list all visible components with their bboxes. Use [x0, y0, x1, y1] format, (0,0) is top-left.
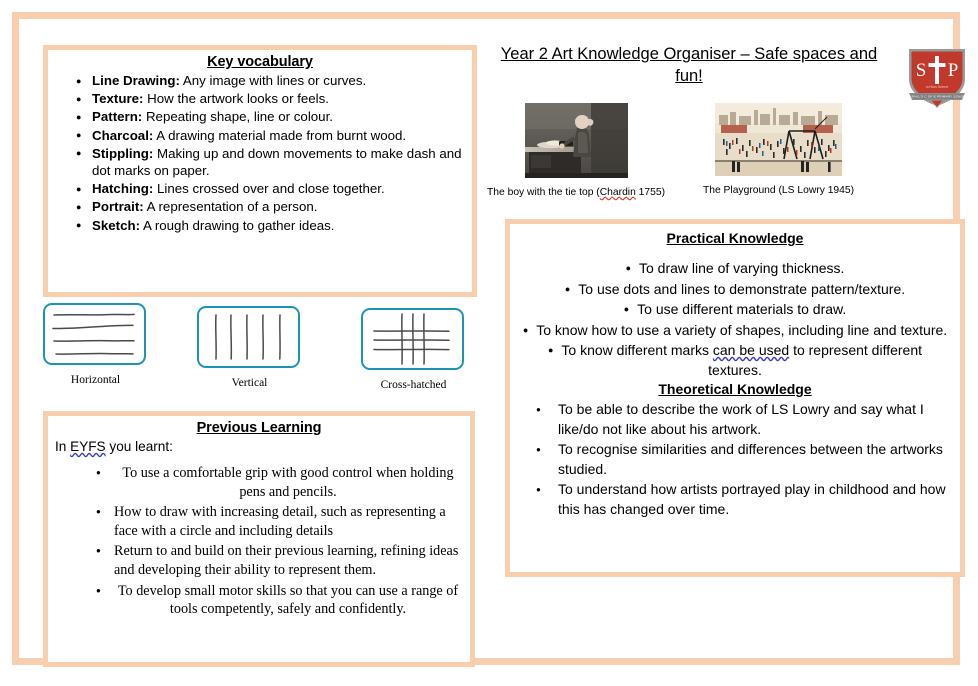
page-border-frame: Key vocabulary Line Drawing: Any image w… — [12, 12, 960, 665]
list-item: To use a comfortable grip with good cont… — [82, 464, 460, 501]
technique-label: Vertical — [197, 377, 302, 389]
vocab-term: Portrait: — [92, 199, 144, 214]
list-item: ●To know different marks can be used to … — [520, 341, 950, 380]
list-item-text: To use dots and lines to demonstrate pat… — [578, 281, 905, 297]
list-item: To understand how artists portrayed play… — [536, 480, 946, 519]
theoretical-knowledge-title: Theoretical Knowledge — [510, 381, 960, 397]
previous-learning-list: To use a comfortable grip with good cont… — [48, 464, 470, 619]
list-item-text: To use different materials to draw. — [637, 301, 846, 317]
list-item: To recognise similarities and difference… — [536, 440, 946, 479]
vocab-definition: A representation of a person. — [144, 199, 318, 214]
header-block: Year 2 Art Knowledge Organiser – Safe sp… — [485, 43, 893, 87]
key-vocabulary-panel: Key vocabulary Line Drawing: Any image w… — [43, 45, 477, 297]
list-item: ●To use different materials to draw. — [520, 300, 950, 320]
list-item: Pattern: Repeating shape, line or colour… — [76, 108, 464, 125]
logo-letter-s: S — [916, 60, 927, 81]
artwork-caption: The Playground (LS Lowry 1945) — [681, 185, 876, 196]
vocab-term: Line Drawing: — [92, 73, 180, 88]
list-item: Line Drawing: Any image with lines or cu… — [76, 72, 464, 89]
drawing-technique-examples: Horizontal Vertical — [43, 303, 477, 403]
caption-before: The boy with the tie top ( — [487, 187, 600, 198]
vocab-definition: A drawing material made from burnt wood. — [153, 128, 406, 143]
practical-knowledge-title: Practical Knowledge — [510, 230, 960, 246]
previous-learning-panel: Previous Learning In EYFS you learnt: To… — [43, 411, 475, 667]
list-item-text: To know how to use a variety of shapes, … — [536, 322, 947, 338]
artwork-chardin: The boy with the tie top (Chardin 1755) — [481, 103, 671, 198]
list-item: Return to and build on their previous le… — [82, 542, 460, 579]
knowledge-panel: Practical Knowledge ●To draw line of var… — [505, 219, 965, 577]
technique-cross-hatched: Cross-hatched — [361, 308, 466, 391]
bullet-icon: ● — [548, 345, 553, 355]
artwork-caption: The boy with the tie top (Chardin 1755) — [481, 187, 671, 198]
bullet-icon: ● — [565, 284, 570, 294]
list-item: ●To know how to use a variety of shapes,… — [520, 321, 950, 341]
list-item: Stippling: Making up and down movements … — [76, 145, 464, 179]
lowry-painting-thumbnail — [715, 103, 842, 176]
cross-hatched-lines-icon — [361, 308, 464, 370]
shield-logo-icon: S P veritas lumen ST PAUL'S C OF E PRIMA… — [903, 43, 971, 113]
theoretical-knowledge-list: To be able to describe the work of LS Lo… — [510, 400, 960, 520]
spellcheck-flagged-word: Chardin — [600, 187, 636, 198]
grammar-flagged-phrase: can be used — [713, 342, 789, 358]
vertical-lines-drawing — [199, 308, 298, 366]
list-item: Sketch: A rough drawing to gather ideas. — [76, 217, 464, 234]
vocab-term: Texture: — [92, 91, 143, 106]
spellcheck-flagged-word: EYFS — [70, 439, 106, 454]
technique-vertical: Vertical — [197, 306, 302, 389]
list-item: ●To use dots and lines to demonstrate pa… — [520, 280, 950, 300]
list-item: Hatching: Lines crossed over and close t… — [76, 180, 464, 197]
technique-label: Cross-hatched — [361, 379, 466, 391]
horizontal-lines-icon — [43, 303, 146, 365]
logo-letter-p: P — [948, 60, 959, 81]
vocab-definition: Any image with lines or curves. — [180, 73, 366, 88]
logo-motto: veritas lumen — [926, 84, 949, 89]
key-vocabulary-title: Key vocabulary — [48, 54, 472, 70]
vocab-term: Pattern: — [92, 109, 142, 124]
list-item: ●To draw line of varying thickness. — [520, 259, 950, 279]
key-vocabulary-list: Line Drawing: Any image with lines or cu… — [48, 72, 472, 234]
caption-after: 1755) — [636, 187, 665, 198]
list-item: To be able to describe the work of LS Lo… — [536, 400, 946, 439]
artwork-lowry: The Playground (LS Lowry 1945) — [681, 103, 876, 196]
list-item: To develop small motor skills so that yo… — [82, 582, 460, 619]
bullet-icon: ● — [624, 304, 629, 314]
list-item: Portrait: A representation of a person. — [76, 198, 464, 215]
technique-horizontal: Horizontal — [43, 303, 148, 386]
knowledge-organiser-page: Key vocabulary Line Drawing: Any image w… — [0, 0, 978, 686]
list-item: Texture: How the artwork looks or feels. — [76, 90, 464, 107]
vocab-definition: A rough drawing to gather ideas. — [140, 218, 334, 233]
chardin-painting-thumbnail — [525, 103, 628, 178]
intro-before: In — [55, 439, 70, 454]
logo-banner-text: ST PAUL'S C OF E PRIMARY SCHOOL — [906, 95, 967, 99]
page-title: Year 2 Art Knowledge Organiser – Safe sp… — [485, 43, 893, 87]
school-logo: S P veritas lumen ST PAUL'S C OF E PRIMA… — [903, 43, 971, 113]
list-item: How to draw with increasing detail, such… — [82, 503, 460, 540]
intro-after: you learnt: — [106, 439, 173, 454]
vocab-term: Charcoal: — [92, 128, 153, 143]
vocab-definition: Lines crossed over and close together. — [153, 181, 384, 196]
previous-learning-intro: In EYFS you learnt: — [55, 439, 470, 454]
page-title-line1: Year 2 Art Knowledge Organiser – Safe sp… — [501, 45, 845, 63]
horizontal-lines-drawing — [45, 305, 144, 363]
vertical-lines-icon — [197, 306, 300, 368]
previous-learning-title: Previous Learning — [48, 420, 470, 436]
list-item: Charcoal: A drawing material made from b… — [76, 127, 464, 144]
artwork-thumbnails: The boy with the tie top (Chardin 1755) — [481, 103, 901, 215]
vocab-term: Hatching: — [92, 181, 153, 196]
cross-hatched-lines-drawing — [363, 310, 462, 368]
bullet-icon: ● — [626, 263, 631, 273]
practical-knowledge-list: ●To draw line of varying thickness. ●To … — [510, 259, 960, 380]
vocab-term: Sketch: — [92, 218, 140, 233]
vocab-definition: Repeating shape, line or colour. — [142, 109, 333, 124]
vocab-definition: How the artwork looks or feels. — [143, 91, 329, 106]
list-item-text: To draw line of varying thickness. — [639, 260, 844, 276]
vocab-term: Stippling: — [92, 146, 153, 161]
list-item-text-before: To know different marks — [561, 342, 712, 358]
bullet-icon: ● — [523, 325, 528, 335]
technique-label: Horizontal — [43, 374, 148, 386]
